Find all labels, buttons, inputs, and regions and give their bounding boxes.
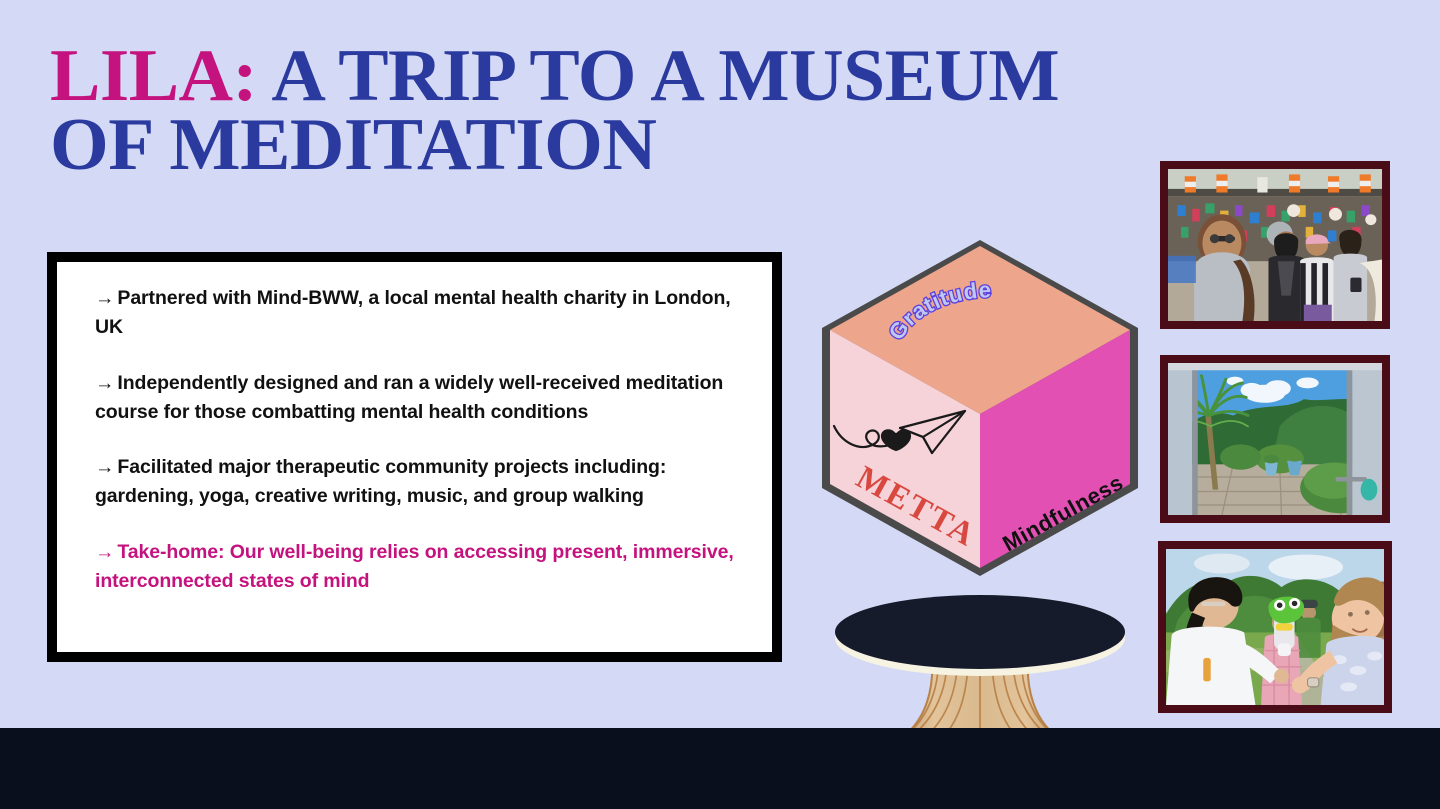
slide-canvas: LILA: A TRIP TO A MUSEUM OF MEDITATION →…: [0, 0, 1440, 809]
photo-park-bubble-toy: [1158, 541, 1392, 713]
photo-market-selfie: [1160, 161, 1390, 329]
content-box: →Partnered with Mind-BWW, a local mental…: [47, 252, 782, 662]
content-box-inner: →Partnered with Mind-BWW, a local mental…: [57, 262, 772, 652]
photo-image: [1168, 169, 1382, 321]
list-item: →Partnered with Mind-BWW, a local mental…: [95, 284, 746, 343]
photo-garden-doorway: [1160, 355, 1390, 523]
pedestal-table: [835, 595, 1125, 746]
list-item-text: Partnered with Mind-BWW, a local mental …: [95, 287, 731, 338]
arrow-icon: →: [95, 541, 114, 563]
table-top: [835, 595, 1125, 669]
arrow-icon: →: [95, 372, 114, 394]
page-title: LILA: A TRIP TO A MUSEUM OF MEDITATION: [50, 42, 1070, 180]
list-item-text: Independently designed and ran a widely …: [95, 372, 723, 423]
meditation-cube: Gratitude METTA: [822, 240, 1138, 576]
meditation-cube-illustration: Gratitude METTA: [820, 238, 1140, 748]
list-item-takehome: →Take-home: Our well-being relies on acc…: [95, 538, 746, 597]
photo-image: [1168, 363, 1382, 515]
arrow-icon: →: [95, 456, 114, 478]
list-item-text: Take-home: Our well-being relies on acce…: [95, 541, 734, 592]
photo-image: [1166, 549, 1384, 705]
list-item-text: Facilitated major therapeutic community …: [95, 456, 666, 507]
list-item: →Facilitated major therapeutic community…: [95, 453, 746, 512]
arrow-icon: →: [95, 287, 114, 309]
list-item: →Independently designed and ran a widely…: [95, 369, 746, 428]
footer-bar: [0, 728, 1440, 809]
